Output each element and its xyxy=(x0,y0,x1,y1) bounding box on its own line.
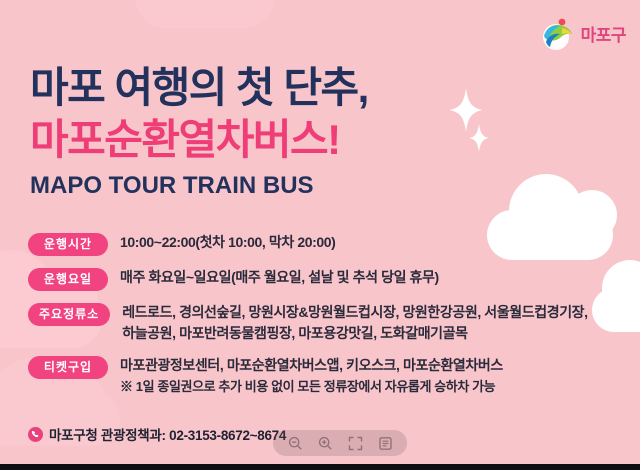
info-text-ticket-purchase: 마포관광정보센터, 마포순환열차버스앱, 키오스크, 마포순환열차버스 ※ 1일… xyxy=(120,355,503,397)
viewer-toolbar xyxy=(273,430,407,456)
zoom-in-icon[interactable] xyxy=(317,435,333,451)
info-text-operating-hours: 10:00~22:00(첫차 10:00, 막차 20:00) xyxy=(120,232,335,253)
mapo-gu-logo: 마포구 xyxy=(542,18,626,52)
title-block: 마포 여행의 첫 단추, 마포순환열차버스! MAPO TOUR TRAIN B… xyxy=(30,62,368,200)
info-text-operating-days: 매주 화요일~일요일(매주 월요일, 설날 및 추석 당일 휴무) xyxy=(120,267,439,288)
badge-operating-hours: 운행시간 xyxy=(28,233,108,256)
poster-canvas: 마포구 마포 여행의 첫 단추, 마포순환열차버스! MAPO TOUR TRA… xyxy=(0,0,640,470)
info-text-main-stops: 레드로드, 경의선숲길, 망원시장&망원월드컵시장, 망원한강공원, 서울월드컵… xyxy=(122,302,587,344)
badge-main-stops: 주요정류소 xyxy=(28,303,110,326)
info-text-line1: 마포관광정보센터, 마포순환열차버스앱, 키오스크, 마포순환열차버스 xyxy=(120,357,503,373)
title-line-2: 마포순환열차버스! xyxy=(30,114,368,166)
badge-operating-days: 운행요일 xyxy=(28,268,108,291)
info-text-line2: 하늘공원, 마포반려동물캠핑장, 마포용강맛길, 도화갈매기골목 xyxy=(122,323,587,344)
badge-ticket-purchase: 티켓구입 xyxy=(28,356,108,379)
list-view-icon[interactable] xyxy=(377,435,393,451)
fullscreen-icon[interactable] xyxy=(347,435,363,451)
mapo-gu-wave-leaf-logo-icon xyxy=(542,18,576,52)
info-list: 운행시간 10:00~22:00(첫차 10:00, 막차 20:00) 운행요… xyxy=(28,232,628,408)
info-row-operating-hours: 운행시간 10:00~22:00(첫차 10:00, 막차 20:00) xyxy=(28,232,628,256)
info-note-free-transfer: ※ 1일 종일권으로 추가 비용 없이 모든 정류장에서 자유롭게 승하차 가능 xyxy=(120,376,503,397)
bottom-strip xyxy=(0,464,640,470)
sparkle-icon-small xyxy=(469,124,489,152)
logo-text: 마포구 xyxy=(581,27,626,44)
info-row-operating-days: 운행요일 매주 화요일~일요일(매주 월요일, 설날 및 추석 당일 휴무) xyxy=(28,267,628,291)
info-row-main-stops: 주요정류소 레드로드, 경의선숲길, 망원시장&망원월드컵시장, 망원한강공원,… xyxy=(28,302,628,344)
phone-icon xyxy=(28,427,43,442)
subtitle-english: MAPO TOUR TRAIN BUS xyxy=(30,172,368,200)
title-line-1: 마포 여행의 첫 단추, xyxy=(30,62,368,114)
cloud-decoration-top xyxy=(135,0,275,28)
contact-text: 마포구청 관광정책과: 02-3153-8672~8674 xyxy=(49,424,286,444)
info-text-line1: 10:00~22:00(첫차 10:00, 막차 20:00) xyxy=(120,234,335,250)
zoom-out-icon[interactable] xyxy=(287,435,303,451)
contact-line: 마포구청 관광정책과: 02-3153-8672~8674 xyxy=(28,424,286,444)
info-text-line1: 레드로드, 경의선숲길, 망원시장&망원월드컵시장, 망원한강공원, 서울월드컵… xyxy=(122,304,587,320)
info-text-line1: 매주 화요일~일요일(매주 월요일, 설날 및 추석 당일 휴무) xyxy=(120,269,439,285)
info-row-ticket-purchase: 티켓구입 마포관광정보센터, 마포순환열차버스앱, 키오스크, 마포순환열차버스… xyxy=(28,355,628,397)
